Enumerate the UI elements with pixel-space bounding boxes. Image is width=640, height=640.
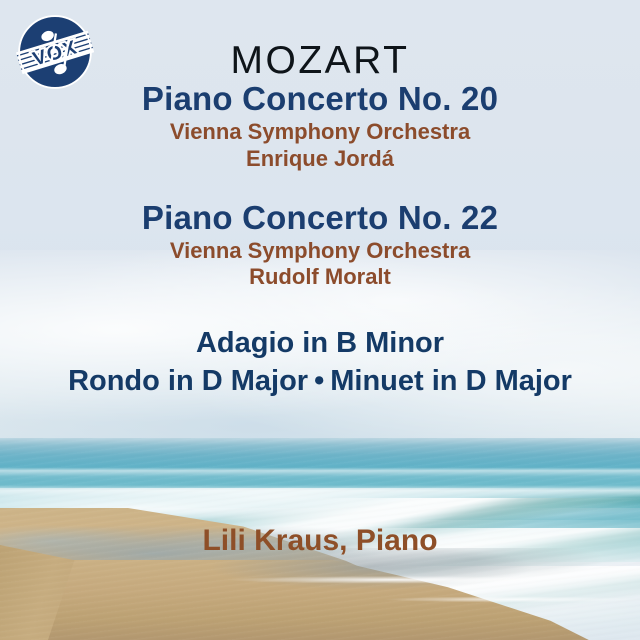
distant-sea-band — [0, 438, 640, 508]
breaking-wave-lower — [0, 566, 640, 640]
dry-dune-left — [0, 545, 120, 640]
work-title-2: Piano Concerto No. 22 — [0, 199, 640, 238]
cover-text-stack: MOZART Piano Concerto No. 20 Vienna Symp… — [0, 0, 640, 401]
performer-credit: Lili Kraus, Piano — [0, 526, 640, 556]
piece-separator-bullet: • — [308, 365, 330, 397]
sand-beach-lower — [0, 560, 640, 640]
work-ensemble-2: Vienna Symphony Orchestra — [0, 238, 640, 265]
work-block-2: Piano Concerto No. 22 Vienna Symphony Or… — [0, 199, 640, 292]
work-conductor-2: Rudolf Moralt — [0, 264, 640, 291]
additional-pieces: Adagio in B Minor Rondo in D Major•Minue… — [0, 325, 640, 400]
work-title-1: Piano Concerto No. 20 — [0, 80, 640, 119]
album-cover: VOX MOZART Piano Concerto No. 20 Vienna … — [0, 0, 640, 640]
wet-sand-reflection-2 — [0, 548, 640, 612]
composer-name: MOZART — [0, 0, 640, 80]
piece-line-2: Rondo in D Major•Minuet in D Major — [0, 363, 640, 401]
shoreline-foam-edge — [0, 556, 640, 626]
work-ensemble-1: Vienna Symphony Orchestra — [0, 119, 640, 146]
piece-line-1: Adagio in B Minor — [0, 325, 640, 363]
work-conductor-1: Enrique Jordá — [0, 146, 640, 173]
piece-rondo: Rondo in D Major — [68, 365, 308, 397]
piece-minuet: Minuet in D Major — [330, 365, 572, 397]
work-block-1: Piano Concerto No. 20 Vienna Symphony Or… — [0, 80, 640, 173]
